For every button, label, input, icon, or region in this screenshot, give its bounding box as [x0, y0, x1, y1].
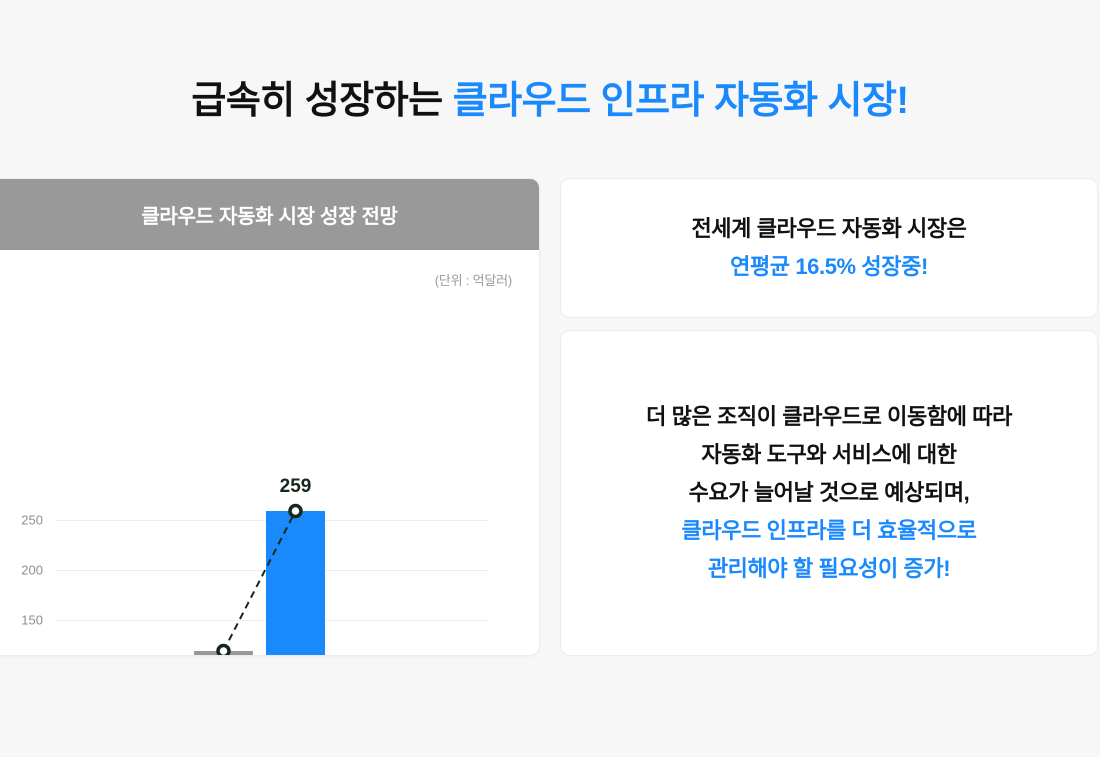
market-insight-line-3: 수요가 늘어날 것으로 예상되며,: [689, 474, 970, 512]
market-insight-line-2: 자동화 도구와 서비스에 대한: [701, 436, 956, 474]
chart-unit-label: (단위 : 억달러): [435, 270, 512, 289]
bar-2020[interactable]: 119: [194, 250, 253, 656]
bar-rect-2025: [266, 511, 325, 656]
market-insight-card: 더 많은 조직이 클라우드로 이동함에 따라 자동화 도구와 서비스에 대한 수…: [560, 330, 1098, 656]
growth-rate-card: 전세계 클라우드 자동화 시장은 연평균 16.5% 성장중!: [560, 178, 1098, 318]
chart-card-title: 클라우드 자동화 시장 성장 전망: [141, 200, 397, 229]
bar-2025[interactable]: 259: [266, 250, 325, 656]
chart-card: 클라우드 자동화 시장 성장 전망 (단위 : 억달러) 250 200 150…: [0, 178, 540, 656]
chart-plot-area: (단위 : 억달러) 250 200 150 100 50 0 119 25: [0, 250, 539, 656]
bar-value-2025: 259: [266, 476, 325, 498]
y-axis-tick-250: 250: [21, 513, 43, 528]
market-insight-line-5: 관리해야 할 필요성이 증가!: [708, 550, 950, 588]
page-title: 급속히 성장하는 클라우드 인프라 자동화 시장!: [0, 78, 1100, 126]
chart-card-header: 클라우드 자동화 시장 성장 전망: [0, 179, 539, 250]
bar-rect-2020: [194, 651, 253, 656]
y-axis-tick-150: 150: [21, 613, 43, 628]
market-insight-line-1: 더 많은 조직이 클라우드로 이동함에 따라: [646, 398, 1012, 436]
growth-rate-line-1: 전세계 클라우드 자동화 시장은: [691, 210, 966, 248]
y-axis-tick-200: 200: [21, 563, 43, 578]
market-insight-line-4: 클라우드 인프라를 더 효율적으로: [682, 512, 977, 550]
growth-rate-line-2: 연평균 16.5% 성장중!: [730, 248, 928, 286]
page-title-blue-part: 클라우드 인프라 자동화 시장!: [453, 80, 909, 122]
page-title-dark-part: 급속히 성장하는: [191, 80, 452, 122]
